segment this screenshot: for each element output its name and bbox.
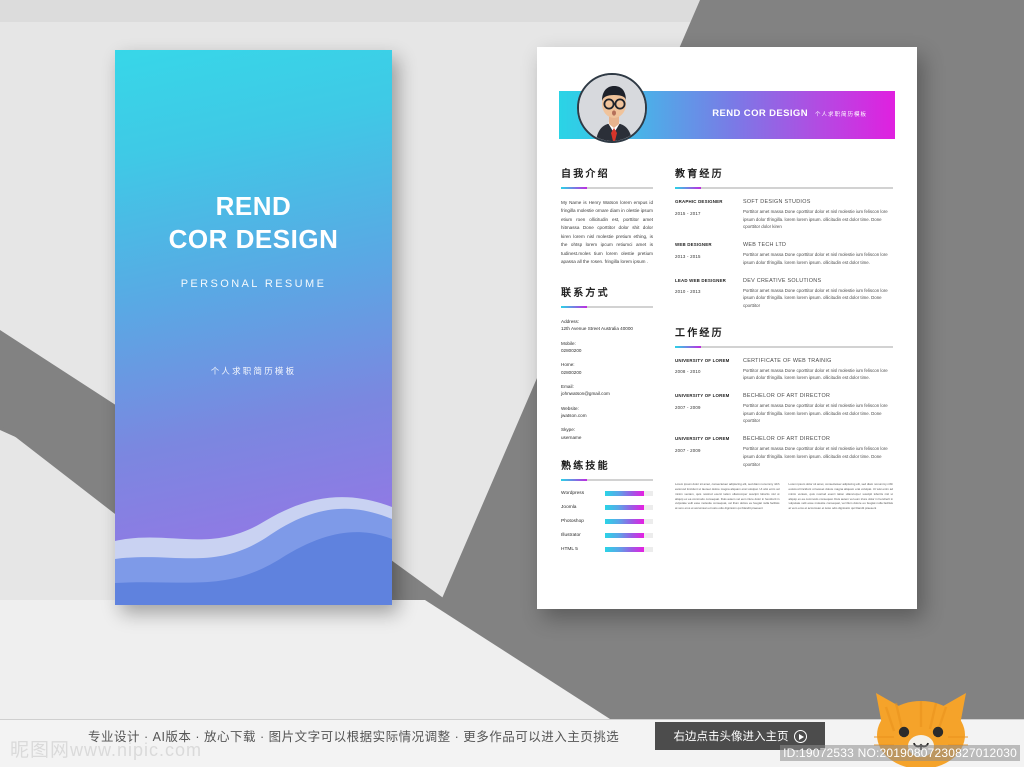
skill-progress-track [605,505,653,510]
entry-organization: BECHELOR OF ART DIRECTOR [743,436,893,442]
education-title: 教育经历 [675,165,893,180]
contact-item-label: Email: [561,383,653,390]
entry-meta: UNIVERSITY OF LOREM2007 - 2009 [675,436,743,468]
contact-rule [561,306,653,308]
education-rule [675,187,893,189]
avatar [577,73,647,143]
work-list: UNIVERSITY OF LOREM2008 - 2010CERTIFICAT… [675,358,893,469]
watermark-bar: 昵图网www.nipic.com 专业设计 · AI版本 · 放心下载 · 图片… [0,719,1024,767]
footer-text-column-1: Lorem ipsum dolor sit amet, consectetuer… [675,482,780,511]
contact-item-label: Website: [561,405,653,412]
contact-item-label: Skype: [561,426,653,433]
cover-subtitle: PERSONAL RESUME [115,278,392,290]
contact-item: Skype:username [561,426,653,441]
entry-organization: SOFT DESIGN STUDIOS [743,199,893,205]
entry-description: Porttitor amet massa Done cporttitor dol… [743,287,893,310]
experience-entry: GRAPHIC DESIGNER2015 - 2017SOFT DESIGN S… [675,199,893,231]
experience-entry: UNIVERSITY OF LOREM2007 - 2009BECHELOR O… [675,436,893,468]
skill-name: Joomla [561,505,605,510]
resume-brand-name: REND COR DESIGN [712,108,808,119]
education-list: GRAPHIC DESIGNER2015 - 2017SOFT DESIGN S… [675,199,893,310]
skill-row: Wordpress [561,491,653,496]
skill-name: Illustrator [561,533,605,538]
resume-header-text: REND COR DESIGN 个人求职简历模板 [712,108,867,119]
skills-list: WordpressJoomlaPhotoshopIllustratorHTML … [561,491,653,552]
entry-body: CERTIFICATE OF WEB TRAINIGPorttitor amet… [743,358,893,382]
contact-item-value: 12th Avenue Street Australia 40000 [561,325,653,332]
skill-progress-fill [605,519,644,524]
entry-meta: UNIVERSITY OF LOREM2007 - 2009 [675,393,743,425]
entry-role: GRAPHIC DESIGNER [675,199,743,206]
contact-item-value: 02800200 [561,369,653,376]
skill-progress-track [605,491,653,496]
skill-row: Joomla [561,505,653,510]
about-title: 自我介绍 [561,165,653,180]
resume-cover-page[interactable]: REND COR DESIGN PERSONAL RESUME 个人求职简历模板 [115,50,392,605]
entry-description: Porttitor amet massa Done cporttitor dol… [743,445,893,468]
artboard-background: REND COR DESIGN PERSONAL RESUME 个人求职简历模板… [0,0,1024,719]
contact-item: Address:12th Avenue Street Australia 400… [561,318,653,333]
skill-row: Illustrator [561,533,653,538]
cover-title-line1: REND [115,190,392,223]
experience-entry: LEAD WEB DESIGNER2010 - 2013DEV CREATIVE… [675,278,893,310]
entry-body: SOFT DESIGN STUDIOSPorttitor amet massa … [743,199,893,231]
work-rule [675,346,893,348]
entry-meta: LEAD WEB DESIGNER2010 - 2013 [675,278,743,310]
contact-item-label: Mobile: [561,340,653,347]
skill-progress-track [605,533,653,538]
section-skills: 熟练技能 WordpressJoomlaPhotoshopIllustrator… [561,457,653,552]
contact-item-label: Home: [561,361,653,368]
work-title: 工作经历 [675,324,893,339]
section-about: 自我介绍 My Name is Henry Watson lorem empus… [561,165,653,267]
entry-body: BECHELOR OF ART DIRECTORPorttitor amet m… [743,393,893,425]
entry-role: UNIVERSITY OF LOREM [675,393,743,400]
entry-date: 2015 - 2017 [675,211,743,216]
entry-date: 2013 - 2015 [675,254,743,259]
go-to-homepage-label: 右边点击头像进入主页 [674,728,789,744]
experience-entry: UNIVERSITY OF LOREM2008 - 2010CERTIFICAT… [675,358,893,382]
contact-item: Website:jwatson.com [561,405,653,420]
experience-entry: WEB DESIGNER2013 - 2015WEB TECH LTDPortt… [675,242,893,266]
entry-date: 2010 - 2013 [675,289,743,294]
experience-entry: UNIVERSITY OF LOREM2007 - 2009BECHELOR O… [675,393,893,425]
cover-wave-decoration [115,455,392,605]
skills-rule [561,479,653,481]
entry-description: Porttitor amet massa Done cporttitor dol… [743,251,893,266]
entry-body: BECHELOR OF ART DIRECTORPorttitor amet m… [743,436,893,468]
skill-row: HTML 5 [561,547,653,552]
contact-item-value: jwatson.com [561,412,653,419]
resume-brand-chinese: 个人求职简历模板 [815,110,867,118]
entry-role: UNIVERSITY OF LOREM [675,358,743,365]
entry-meta: UNIVERSITY OF LOREM2008 - 2010 [675,358,743,382]
resume-left-column: 自我介绍 My Name is Henry Watson lorem empus… [561,165,653,561]
resume-footer-text: Lorem ipsum dolor sit amet, consectetuer… [675,482,893,511]
skill-progress-fill [605,533,644,538]
entry-organization: CERTIFICATE OF WEB TRAINIG [743,358,893,364]
skill-name: HTML 5 [561,547,605,552]
cover-chinese-caption: 个人求职简历模板 [115,365,392,377]
entry-meta: GRAPHIC DESIGNER2015 - 2017 [675,199,743,231]
skill-name: Photoshop [561,519,605,524]
promo-text: 专业设计 · AI版本 · 放心下载 · 图片文字可以根据实际情况调整 · 更多… [88,726,619,745]
contact-item: Mobile:02800200 [561,340,653,355]
skill-name: Wordpress [561,491,605,496]
entry-date: 2008 - 2010 [675,369,743,374]
contact-title: 联系方式 [561,284,653,299]
entry-role: WEB DESIGNER [675,242,743,249]
section-education: 教育经历 GRAPHIC DESIGNER2015 - 2017SOFT DES… [675,165,893,310]
entry-description: Porttitor amet massa Done cporttitor dol… [743,402,893,425]
skill-progress-fill [605,547,644,552]
footer-text-column-2: Lorem ipsum dolor sit amet, consectetuer… [789,482,894,511]
resume-right-column: 教育经历 GRAPHIC DESIGNER2015 - 2017SOFT DES… [675,165,893,511]
contact-item-value: username [561,434,653,441]
section-contact: 联系方式 Address:12th Avenue Street Australi… [561,284,653,441]
skill-row: Photoshop [561,519,653,524]
entry-body: DEV CREATIVE SOLUTIONSPorttitor amet mas… [743,278,893,310]
skill-progress-fill [605,505,644,510]
skill-progress-track [605,547,653,552]
contact-item: Home:02800200 [561,361,653,376]
entry-date: 2007 - 2009 [675,448,743,453]
entry-role: LEAD WEB DESIGNER [675,278,743,285]
about-rule [561,187,653,189]
skill-progress-fill [605,491,644,496]
image-id-text: ID:19072533 NO:20190807230827012030 [780,745,1020,761]
entry-role: UNIVERSITY OF LOREM [675,436,743,443]
arrow-right-circle-icon [794,730,807,743]
entry-organization: BECHELOR OF ART DIRECTOR [743,393,893,399]
nipic-logo-cn: 昵图网 [10,740,70,761]
contact-item-value: johnwatson@gmail.com [561,390,653,397]
skill-progress-track [605,519,653,524]
contact-list: Address:12th Avenue Street Australia 400… [561,318,653,441]
entry-organization: DEV CREATIVE SOLUTIONS [743,278,893,284]
contact-item: Email:johnwatson@gmail.com [561,383,653,398]
entry-meta: WEB DESIGNER2013 - 2015 [675,242,743,266]
resume-inner-page[interactable]: REND COR DESIGN 个人求职简历模板 [537,47,917,609]
entry-description: Porttitor amet massa Done cporttitor dol… [743,208,893,231]
section-work: 工作经历 UNIVERSITY OF LOREM2008 - 2010CERTI… [675,324,893,469]
contact-item-label: Address: [561,318,653,325]
entry-organization: WEB TECH LTD [743,242,893,248]
entry-description: Porttitor amet massa Done cporttitor dol… [743,367,893,382]
cover-title: REND COR DESIGN [115,190,392,255]
contact-item-value: 02800200 [561,347,653,354]
about-text: My Name is Henry Watson lorem empus id f… [561,199,653,267]
entry-body: WEB TECH LTDPorttitor amet massa Done cp… [743,242,893,266]
skills-title: 熟练技能 [561,457,653,472]
cover-title-line2: COR DESIGN [115,223,392,256]
entry-date: 2007 - 2009 [675,405,743,410]
